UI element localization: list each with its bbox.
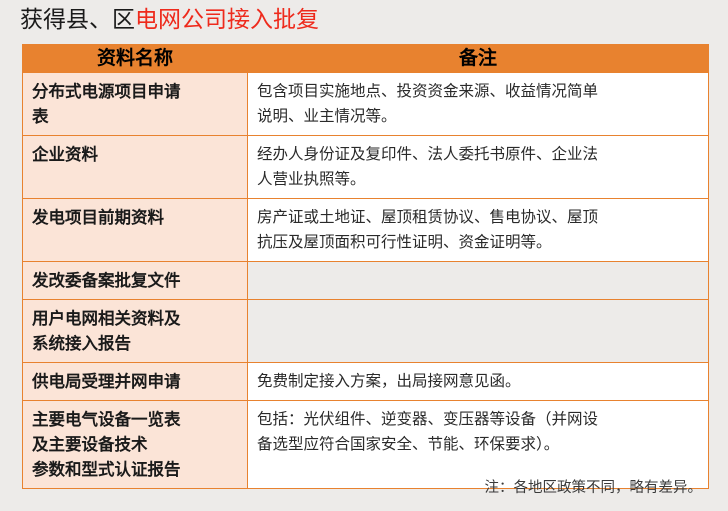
table-header: 资料名称 备注 — [23, 45, 709, 73]
column-header-note: 备注 — [248, 45, 709, 73]
cell-note-line: 经办人身份证及复印件、法人委托书原件、企业法 — [257, 142, 700, 167]
cell-note: 包含项目实施地点、投资资金来源、收益情况简单说明、业主情况等。 — [248, 73, 709, 136]
cell-material-name: 企业资料 — [23, 136, 248, 199]
table-row: 用户电网相关资料及系统接入报告 — [23, 300, 709, 363]
table-row: 供电局受理并网申请免费制定接入方案，出局接网意见函。 — [23, 363, 709, 401]
cell-note-line: 人营业执照等。 — [257, 167, 700, 192]
cell-note — [248, 300, 709, 363]
cell-material-name-line: 及主要设备技术 — [32, 432, 241, 457]
cell-material-name: 主要电气设备一览表及主要设备技术参数和型式认证报告 — [23, 401, 248, 489]
footnote: 注：各地区政策不同，略有差异。 — [485, 476, 703, 497]
table-row: 企业资料经办人身份证及复印件、法人委托书原件、企业法人营业执照等。 — [23, 136, 709, 199]
table-body: 分布式电源项目申请表包含项目实施地点、投资资金来源、收益情况简单说明、业主情况等… — [23, 73, 709, 489]
cell-material-name-line: 参数和型式认证报告 — [32, 457, 241, 482]
table-row: 发改委备案批复文件 — [23, 262, 709, 300]
slide-page: 获得县、区电网公司接入批复 资料名称 备注 分布式电源项目申请表包含项目实施地点… — [0, 0, 728, 511]
cell-note-line: 备选型应符合国家安全、节能、环保要求）。 — [257, 432, 700, 457]
cell-material-name-line: 供电局受理并网申请 — [32, 369, 241, 394]
table-row: 发电项目前期资料房产证或土地证、屋顶租赁协议、售电协议、屋顶抗压及屋顶面积可行性… — [23, 199, 709, 262]
cell-note: 房产证或土地证、屋顶租赁协议、售电协议、屋顶抗压及屋顶面积可行性证明、资金证明等… — [248, 199, 709, 262]
cell-material-name-line: 企业资料 — [32, 142, 241, 167]
cell-note: 免费制定接入方案，出局接网意见函。 — [248, 363, 709, 401]
cell-material-name: 用户电网相关资料及系统接入报告 — [23, 300, 248, 363]
cell-material-name: 发电项目前期资料 — [23, 199, 248, 262]
cell-material-name: 分布式电源项目申请表 — [23, 73, 248, 136]
cell-material-name-line: 主要电气设备一览表 — [32, 407, 241, 432]
column-header-name: 资料名称 — [23, 45, 248, 73]
materials-table: 资料名称 备注 分布式电源项目申请表包含项目实施地点、投资资金来源、收益情况简单… — [22, 44, 709, 489]
page-title-black: 获得县、区 — [20, 7, 135, 33]
page-title-red: 电网公司接入批复 — [135, 7, 319, 33]
cell-note: 经办人身份证及复印件、法人委托书原件、企业法人营业执照等。 — [248, 136, 709, 199]
cell-note — [248, 262, 709, 300]
table-header-row: 资料名称 备注 — [23, 45, 709, 73]
cell-note-line: 房产证或土地证、屋顶租赁协议、售电协议、屋顶 — [257, 205, 700, 230]
cell-note-line: 包括：光伏组件、逆变器、变压器等设备（并网设 — [257, 407, 700, 432]
cell-material-name: 供电局受理并网申请 — [23, 363, 248, 401]
cell-material-name-line: 分布式电源项目申请 — [32, 79, 241, 104]
cell-material-name-line: 发改委备案批复文件 — [32, 268, 241, 293]
table-row: 分布式电源项目申请表包含项目实施地点、投资资金来源、收益情况简单说明、业主情况等… — [23, 73, 709, 136]
cell-note-line: 说明、业主情况等。 — [257, 104, 700, 129]
cell-note-line: 抗压及屋顶面积可行性证明、资金证明等。 — [257, 230, 700, 255]
cell-material-name-line: 发电项目前期资料 — [32, 205, 241, 230]
cell-material-name-line: 用户电网相关资料及 — [32, 306, 241, 331]
cell-material-name-line: 表 — [32, 104, 241, 129]
page-title: 获得县、区电网公司接入批复 — [20, 4, 319, 36]
cell-note-line: 包含项目实施地点、投资资金来源、收益情况简单 — [257, 79, 700, 104]
cell-note-line: 免费制定接入方案，出局接网意见函。 — [257, 369, 700, 394]
cell-material-name-line: 系统接入报告 — [32, 331, 241, 356]
cell-material-name: 发改委备案批复文件 — [23, 262, 248, 300]
